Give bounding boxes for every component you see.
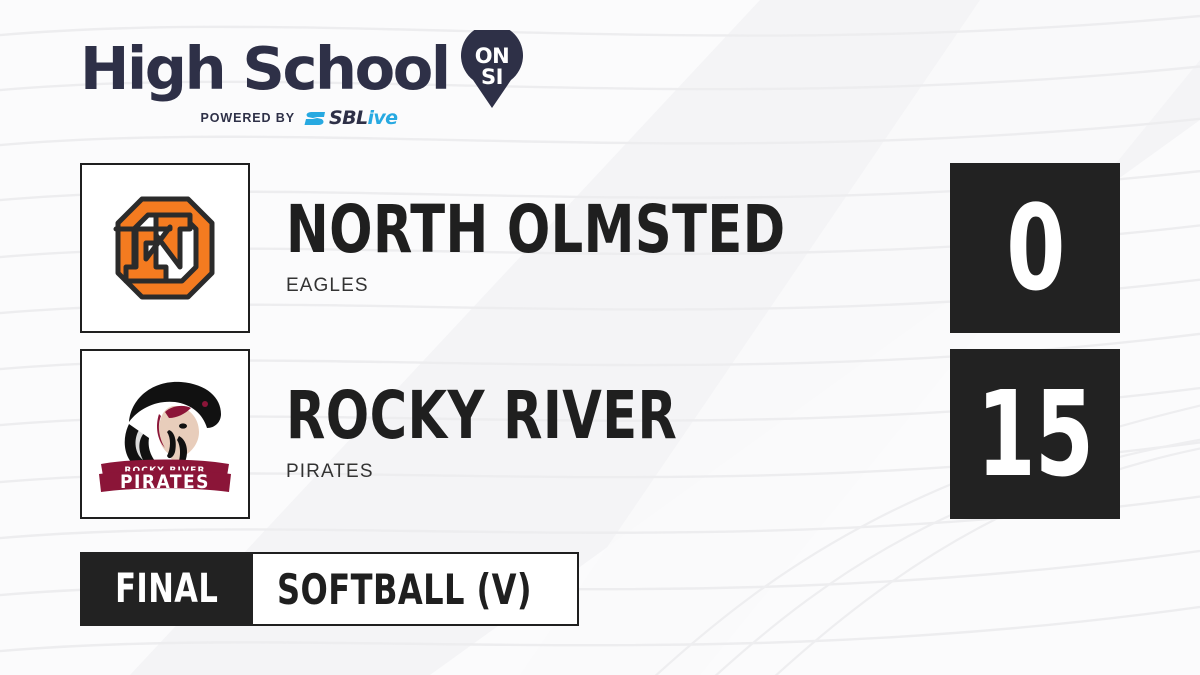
scoreboard-graphic: High School ON SI POWERED BY SBLive (0, 0, 1200, 675)
team-mascot: EAGLES (286, 275, 950, 297)
team-score-box: 0 (950, 163, 1120, 333)
team-score-box: 15 (950, 349, 1120, 519)
svg-text:SI: SI (481, 65, 503, 89)
sblive-wordmark: SBLive (329, 109, 397, 128)
brand-wordmark: High School ON SI (80, 32, 510, 104)
team-name: NORTH OLMSTED (286, 199, 857, 262)
sblive-word-dark: SBL (329, 107, 367, 129)
team-score: 15 (977, 375, 1094, 493)
team-info: NORTH OLMSTED EAGLES (250, 199, 950, 297)
brand-header: High School ON SI POWERED BY SBLive (80, 32, 510, 134)
team-score: 0 (1006, 189, 1064, 307)
sblive-swoosh-icon (304, 110, 326, 127)
powered-by-lockup: POWERED BY SBLive (88, 107, 510, 129)
status-badge-label: FINAL (115, 566, 218, 612)
north-olmsted-eagles-logo (80, 163, 250, 333)
team-info: ROCKY RIVER PIRATES (250, 385, 950, 483)
team-row: ROCKY RIVER PIRATES ROCKY RIVER PIRATES … (80, 349, 1120, 519)
team-row: NORTH OLMSTED EAGLES 0 (80, 163, 1120, 333)
svg-text:PIRATES: PIRATES (120, 471, 210, 493)
team-mascot: PIRATES (286, 461, 950, 483)
sport-label: SOFTBALL (V) (277, 565, 532, 614)
game-status-bar: FINAL SOFTBALL (V) (80, 552, 546, 626)
location-pin-icon: ON SI (461, 30, 523, 108)
rocky-river-pirates-logo: ROCKY RIVER PIRATES (80, 349, 250, 519)
sport-label-panel: SOFTBALL (V) (253, 552, 579, 626)
sblive-logo: SBLive (304, 109, 397, 128)
brand-title: High School (80, 39, 449, 98)
team-name: ROCKY RIVER (286, 385, 857, 448)
status-badge: FINAL (80, 552, 253, 626)
powered-by-label: POWERED BY (201, 111, 295, 125)
sblive-word-cyan: ive (367, 107, 397, 129)
